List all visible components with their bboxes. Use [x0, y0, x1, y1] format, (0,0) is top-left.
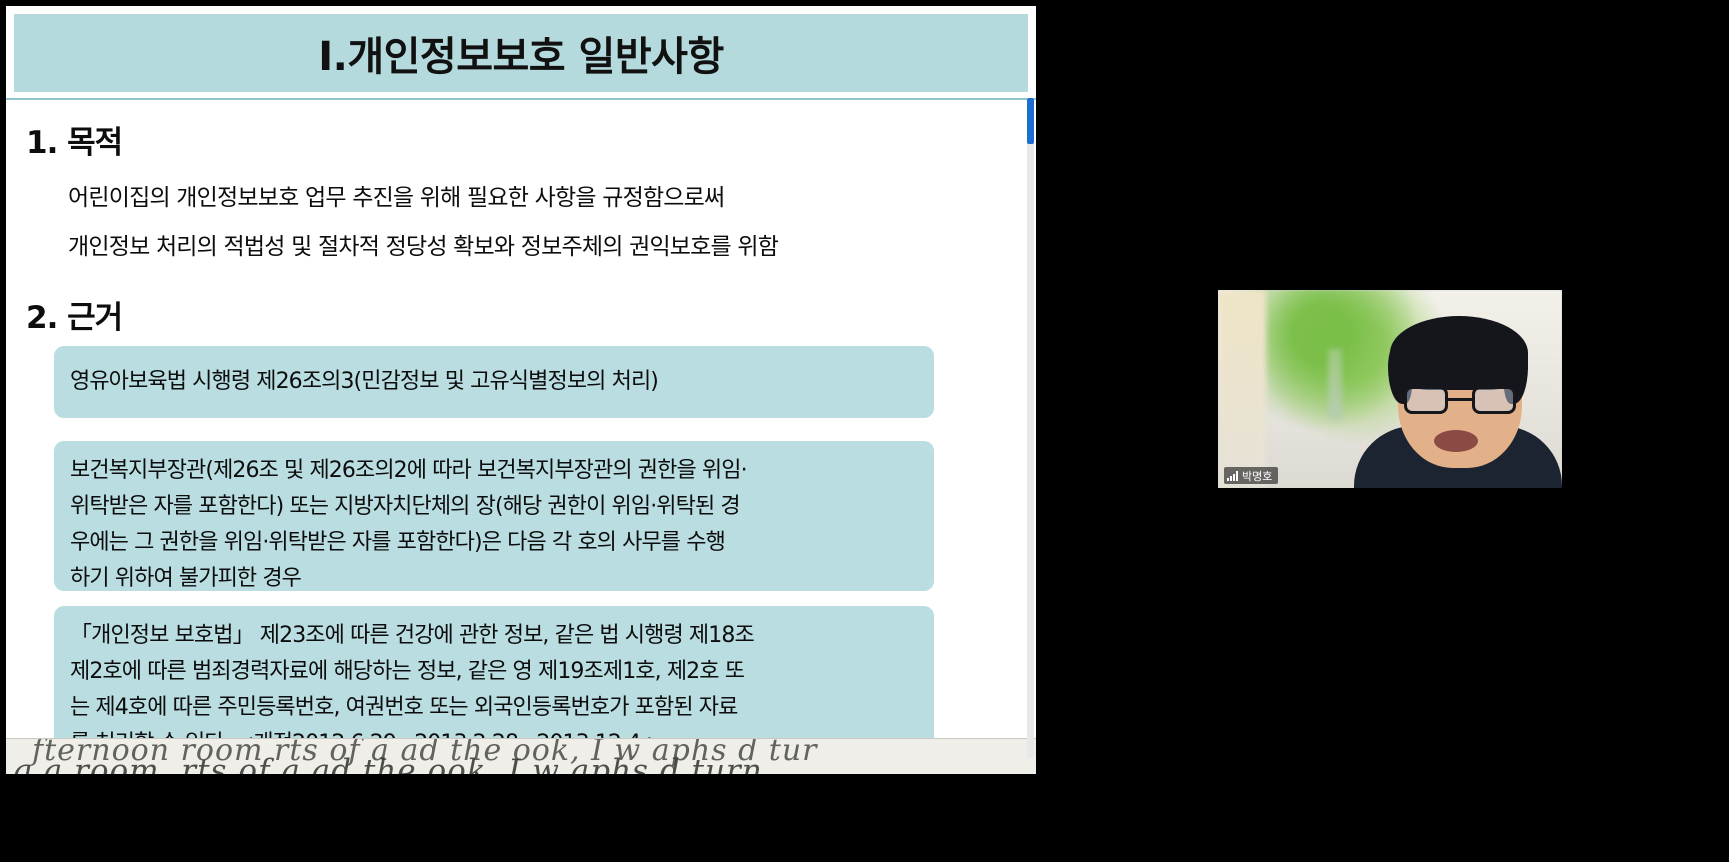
- purpose-line-1: 어린이집의 개인정보보호 업무 추진을 위해 필요한 사항을 규정함으로써: [68, 178, 724, 212]
- law-box-3-line-1: 「개인정보 보호법」 제23조에 따른 건강에 관한 정보, 같은 법 시행령 …: [70, 618, 920, 654]
- meeting-screen: Ⅰ.개인정보보호 일반사항 1. 목적 어린이집의 개인정보보호 업무 추진을 …: [0, 0, 1729, 862]
- law-box-3: 「개인정보 보호법」 제23조에 따른 건강에 관한 정보, 같은 법 시행령 …: [54, 606, 934, 756]
- participant-figure: [1360, 302, 1556, 488]
- law-box-2-line-1: 보건복지부장관(제26조 및 제26조의2에 따라 보건복지부장관의 권한을 위…: [70, 453, 920, 489]
- law-box-2: 보건복지부장관(제26조 및 제26조의2에 따라 보건복지부장관의 권한을 위…: [54, 441, 934, 591]
- law-box-1-line-1: 영유아보육법 시행령 제26조의3(민감정보 및 고유식별정보의 처리): [70, 364, 658, 400]
- participant-video-tile[interactable]: 박명호: [1218, 290, 1562, 488]
- section-1-heading: 1. 목적: [26, 117, 122, 162]
- slide-title-bar: Ⅰ.개인정보보호 일반사항: [14, 14, 1028, 92]
- slide-scrollbar-thumb[interactable]: [1027, 98, 1034, 144]
- signal-strength-icon: [1227, 471, 1238, 481]
- shared-screen-region: Ⅰ.개인정보보호 일반사항 1. 목적 어린이집의 개인정보보호 업무 추진을 …: [0, 0, 1040, 780]
- glasses-bridge: [1448, 398, 1472, 401]
- video-background-wall: [1218, 290, 1266, 488]
- presentation-slide: Ⅰ.개인정보보호 일반사항 1. 목적 어린이집의 개인정보보호 업무 추진을 …: [6, 6, 1036, 774]
- law-box-2-line-2: 위탁받은 자를 포함한다) 또는 지방자치단체의 장(해당 권한이 위임·위탁된…: [70, 489, 920, 525]
- law-box-2-line-4: 하기 위하여 불가피한 경우: [70, 561, 920, 597]
- law-box-1: 영유아보육법 시행령 제26조의3(민감정보 및 고유식별정보의 처리): [54, 346, 934, 418]
- section-2-heading: 2. 근거: [26, 292, 122, 337]
- purpose-line-2: 개인정보 처리의 적법성 및 절차적 정당성 확보와 정보주체의 권익보호를 위…: [68, 227, 778, 261]
- video-background-plant: [1328, 349, 1342, 419]
- participant-mouth: [1434, 430, 1478, 452]
- slide-scrollbar[interactable]: [1027, 98, 1034, 758]
- participant-name-label: 박명호: [1242, 468, 1272, 484]
- law-box-3-line-2: 제2호에 따른 범죄경력자료에 해당하는 정보, 같은 영 제19조제1호, 제…: [70, 654, 920, 690]
- video-panel: 박명호: [1208, 0, 1729, 862]
- footer-script-text-bottom: g a room, rts of a ad the ook, I w aphs …: [12, 753, 763, 774]
- glasses-lens-right: [1472, 386, 1516, 414]
- glasses-lens-left: [1404, 386, 1448, 414]
- glasses-icon: [1404, 386, 1516, 414]
- slide-title: Ⅰ.개인정보보호 일반사항: [318, 24, 724, 82]
- slide-body: 1. 목적 어린이집의 개인정보보호 업무 추진을 위해 필요한 사항을 규정함…: [6, 98, 1036, 774]
- next-slide-preview-strip: fternoon room rts of a ad the ook, I w a…: [6, 738, 1036, 774]
- participant-name-badge: 박명호: [1224, 467, 1278, 484]
- law-box-3-line-3: 는 제4호에 따른 주민등록번호, 여권번호 또는 외국인등록번호가 포함된 자…: [70, 690, 920, 726]
- law-box-2-line-3: 우에는 그 권한을 위임·위탁받은 자를 포함한다)은 다음 각 호의 사무를 …: [70, 525, 920, 561]
